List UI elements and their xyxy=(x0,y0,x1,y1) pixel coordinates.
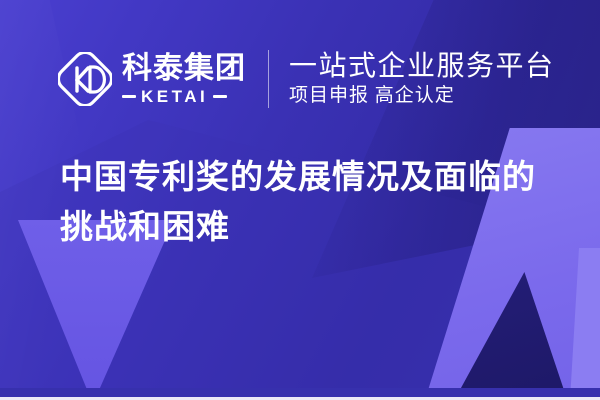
page-title: 中国专利奖的发展情况及面临的挑战和困难 xyxy=(60,152,560,252)
background-shape-right-sliver xyxy=(570,248,600,400)
ketai-diamond-kd-logo-icon xyxy=(58,52,112,106)
footer-band xyxy=(0,388,600,397)
brand-block: 科泰集团 KETAI xyxy=(122,53,246,105)
brand-name-en-row: KETAI xyxy=(122,88,246,105)
background-shape-right-dark-triangle xyxy=(450,272,570,400)
dash-left-icon xyxy=(122,95,136,98)
tagline-block: 一站式企业服务平台 项目申报 高企认定 xyxy=(289,50,555,108)
tagline-secondary: 项目申报 高企认定 xyxy=(289,85,555,108)
brand-name-cn: 科泰集团 xyxy=(122,53,246,84)
tagline-primary: 一站式企业服务平台 xyxy=(289,50,555,81)
brand-name-en: KETAI xyxy=(141,88,208,105)
promo-banner: 科泰集团 KETAI 一站式企业服务平台 项目申报 高企认定 中国专利奖的发展情… xyxy=(0,0,600,400)
header-divider xyxy=(268,50,269,108)
dash-right-icon xyxy=(213,95,227,98)
banner-header: 科泰集团 KETAI 一站式企业服务平台 项目申报 高企认定 xyxy=(0,40,600,118)
